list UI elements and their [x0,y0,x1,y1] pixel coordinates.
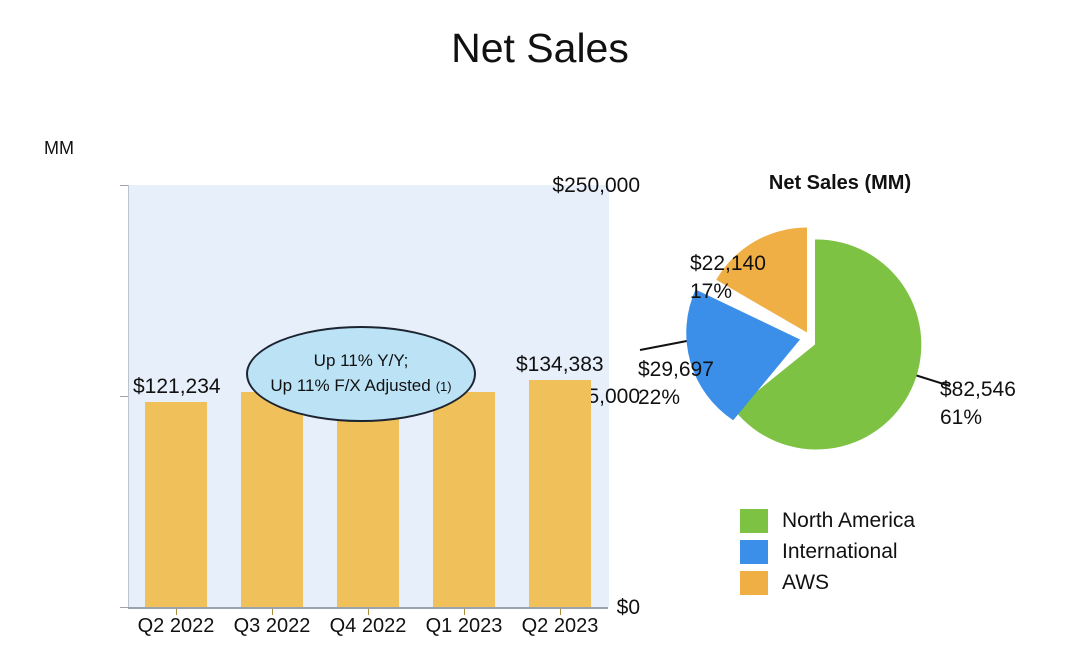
legend-item-aws[interactable]: AWS [740,567,915,598]
pie-label-north-america-percent: 61% [940,404,1016,432]
legend-swatch-aws-icon [740,571,768,595]
leader-line-international [640,340,692,350]
pie-chart: Net Sales (MM) $22,140 17% $29,697 22% $… [630,110,1080,661]
pie-label-international-value: $29,697 [638,356,714,384]
x-tick-label-q4-2022: Q4 2022 [320,615,416,638]
pie-label-north-america: $82,546 61% [940,376,1016,431]
legend-swatch-international-icon [740,540,768,564]
growth-callout-bubble: Up 11% Y/Y; Up 11% F/X Adjusted(1) [246,326,476,422]
bar-q3-2022[interactable] [241,392,303,607]
pie-label-aws: $22,140 17% [690,250,766,305]
pie-label-aws-value: $22,140 [690,250,766,278]
y-tick-mark-125000 [120,396,128,397]
legend-label-aws: AWS [782,571,829,595]
bar-chart: MM $250,000 $125,000 $0 $121,234 $134,38… [0,110,640,661]
pie-label-international: $29,697 22% [638,356,714,411]
pie-label-aws-percent: 17% [690,278,766,306]
pie-label-international-percent: 22% [638,384,714,412]
pie-legend: North America International AWS [740,505,915,598]
x-tick-label-q2-2023: Q2 2023 [512,615,608,638]
y-tick-mark-0 [120,607,128,608]
x-tick-label-q3-2022: Q3 2022 [224,615,320,638]
callout-footnote-marker: (1) [436,379,452,394]
page-title: Net Sales [0,28,1080,69]
callout-line-1: Up 11% Y/Y; [314,349,409,374]
y-axis-unit-label: MM [44,138,74,159]
bar-q2-2023[interactable] [529,380,591,607]
bar-q1-2023[interactable] [433,392,495,607]
callout-line-2: Up 11% F/X Adjusted(1) [270,374,451,399]
legend-item-international[interactable]: International [740,536,915,567]
bar-value-label-q2-2023: $134,383 [516,353,604,377]
legend-label-international: International [782,540,898,564]
x-tick-label-q1-2023: Q1 2023 [416,615,512,638]
x-tick-label-q2-2022: Q2 2022 [128,615,224,638]
callout-line-2-text: Up 11% F/X Adjusted [270,376,430,395]
legend-item-north-america[interactable]: North America [740,505,915,536]
pie-chart-title: Net Sales (MM) [630,172,1050,195]
legend-label-north-america: North America [782,509,915,533]
bar-value-label-q2-2022: $121,234 [133,375,221,399]
y-tick-label-250000: $250,000 [528,174,640,198]
legend-swatch-north-america-icon [740,509,768,533]
y-tick-mark-250000 [120,185,128,186]
bar-q2-2022[interactable] [145,402,207,607]
pie-label-north-america-value: $82,546 [940,376,1016,404]
